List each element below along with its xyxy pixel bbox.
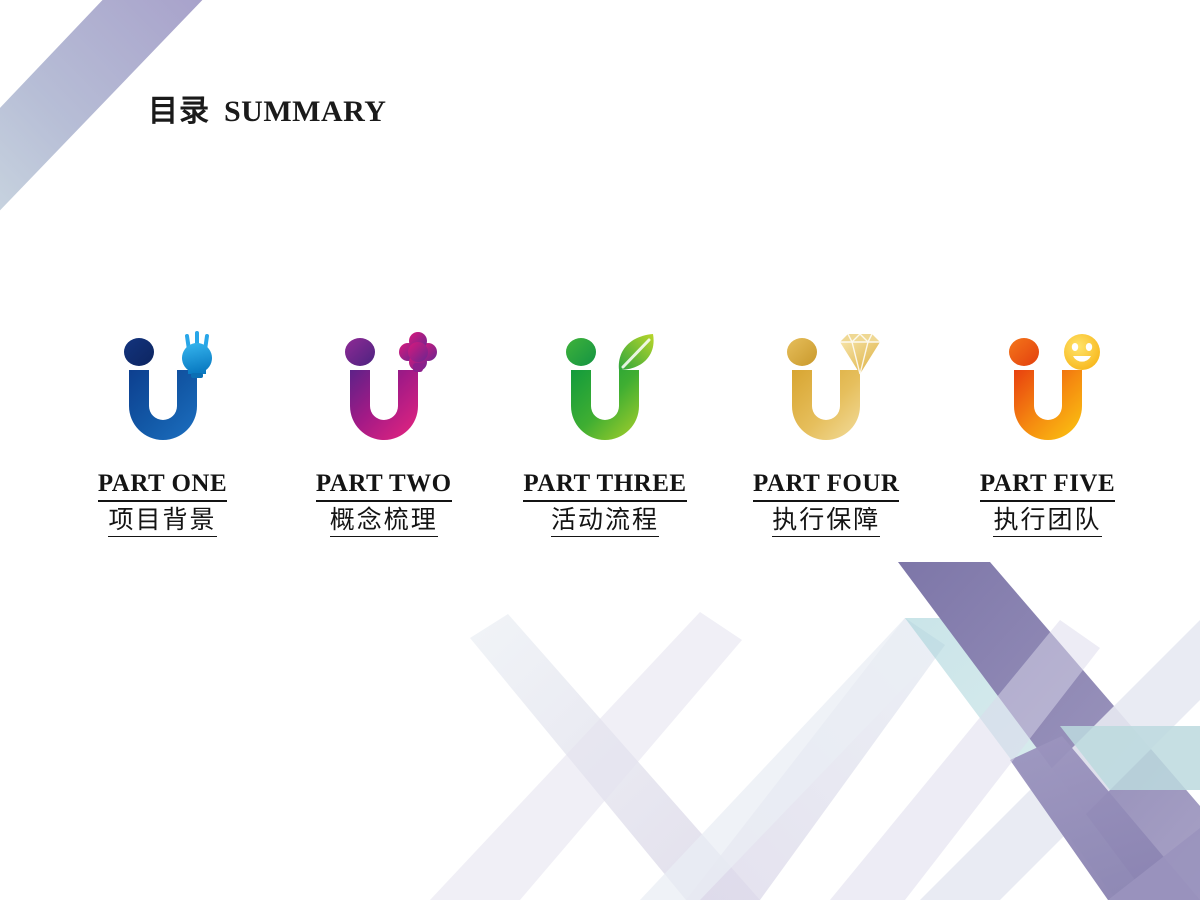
summary-item-part-two[interactable]: PART TWO 概念梳理	[281, 330, 486, 537]
summary-item-labels: PART THREE 活动流程	[503, 470, 708, 537]
part-label-en: PART ONE	[98, 470, 227, 502]
part-label-en: PART FIVE	[980, 470, 1115, 502]
summary-item-part-four[interactable]: PART FOUR 执行保障	[724, 330, 929, 537]
page-title: 目录SUMMARY	[148, 86, 386, 130]
u-bulb-icon	[103, 330, 223, 448]
part-label-en: PART TWO	[316, 470, 452, 502]
u-smiley-icon	[988, 330, 1108, 448]
summary-item-labels: PART FOUR 执行保障	[724, 470, 929, 537]
part-label-en: PART THREE	[523, 470, 686, 502]
page-title-cn: 目录	[148, 95, 210, 128]
u-diamond-icon	[766, 330, 886, 448]
part-label-cn: 活动流程	[551, 507, 659, 538]
summary-item-labels: PART FIVE 执行团队	[945, 470, 1150, 537]
u-leaf-icon	[545, 330, 665, 448]
summary-parts-row: PART ONE 项目背景	[60, 330, 1150, 537]
summary-item-labels: PART ONE 项目背景	[60, 470, 265, 537]
part-label-en: PART FOUR	[753, 470, 899, 502]
summary-item-part-three[interactable]: PART THREE 活动流程	[503, 330, 708, 537]
part-label-cn: 概念梳理	[330, 507, 438, 538]
page-title-en: SUMMARY	[224, 95, 386, 128]
bottom-right-chevrons	[430, 562, 1200, 900]
summary-item-part-one[interactable]: PART ONE 项目背景	[60, 330, 265, 537]
part-label-cn: 项目背景	[108, 507, 216, 538]
summary-item-part-five[interactable]: PART FIVE 执行团队	[945, 330, 1150, 537]
part-label-cn: 执行团队	[993, 507, 1101, 538]
slide-canvas: 目录SUMMARY	[0, 0, 1200, 900]
summary-item-labels: PART TWO 概念梳理	[281, 470, 486, 537]
u-clover-icon	[324, 330, 444, 448]
part-label-cn: 执行保障	[772, 507, 880, 538]
